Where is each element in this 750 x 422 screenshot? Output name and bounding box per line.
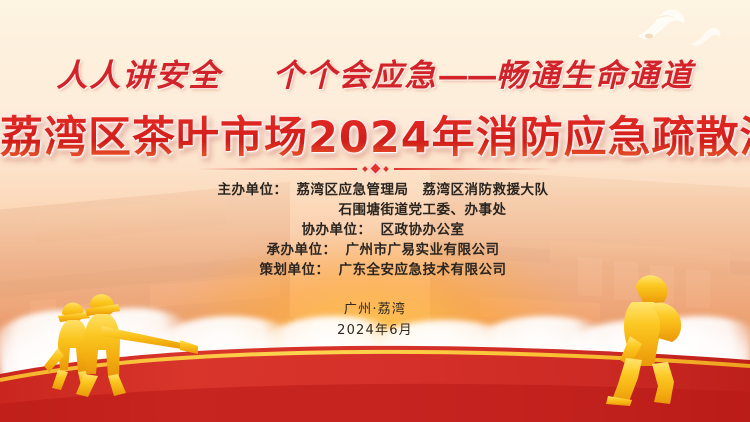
organizer-value: 区政协办公室	[381, 220, 465, 240]
organizer-value: 广东全安应急技术有限公司	[339, 260, 507, 280]
divider-line-right	[394, 168, 554, 170]
page-title: 荔湾区茶叶市场2024年消防应急疏散演练	[0, 103, 750, 165]
poster-canvas: 人人讲安全 个个会应急——畅通生命通道 荔湾区茶叶市场2024年消防应急疏散演练…	[0, 0, 750, 422]
poster-footer: 广州·荔湾 2024年6月	[0, 299, 750, 341]
list-item: 主办单位： 荔湾区应急管理局荔湾区消防救援大队	[202, 180, 549, 200]
list-item: 协办单位： 区政协办公室	[286, 220, 465, 240]
organizer-value: 荔湾区应急管理局荔湾区消防救援大队	[297, 180, 549, 200]
organizer-label: 策划单位：	[244, 260, 330, 280]
organizer-label: 承办单位：	[251, 240, 337, 260]
slogan-part2: 个个会应急	[273, 58, 438, 94]
organizer-label: 协办单位：	[286, 220, 372, 240]
divider	[0, 163, 750, 174]
diamond-ornament-icon	[363, 163, 388, 174]
organizer-list: 主办单位： 荔湾区应急管理局荔湾区消防救援大队 主办单位： 石围塘街道党工委、办…	[0, 180, 750, 280]
organizer-value: 广州市广易实业有限公司	[346, 240, 500, 260]
slogan-part3: 畅通生命通道	[496, 58, 694, 94]
dove-icon	[688, 26, 722, 50]
list-item: 策划单位： 广东全安应急技术有限公司	[244, 260, 507, 280]
event-date: 2024年6月	[0, 320, 750, 341]
list-item: 主办单位： 石围塘街道党工委、办事处	[244, 200, 507, 220]
divider-line-left	[197, 168, 357, 170]
organizer-label: 主办单位：	[202, 180, 288, 200]
dove-icon	[632, 6, 688, 44]
poster-slogan: 人人讲安全 个个会应急——畅通生命通道	[0, 50, 750, 95]
slogan-dash: ——	[438, 58, 496, 94]
list-item: 承办单位： 广州市广易实业有限公司	[251, 240, 500, 260]
organizer-value: 石围塘街道党工委、办事处	[339, 200, 507, 220]
slogan-part1: 人人讲安全	[56, 58, 221, 94]
event-location: 广州·荔湾	[0, 299, 750, 320]
